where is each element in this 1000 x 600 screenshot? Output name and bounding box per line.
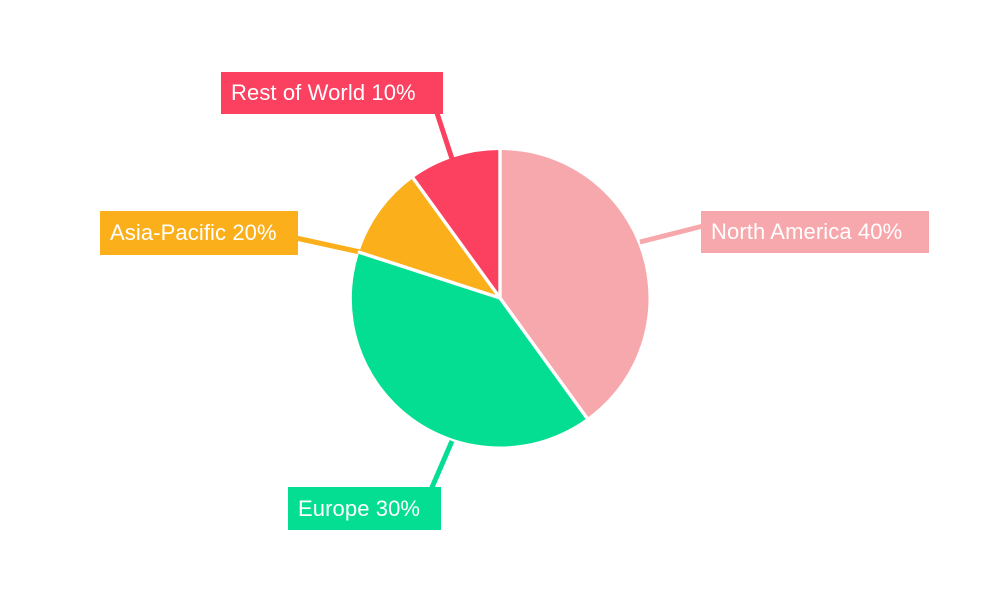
- pie-label-rest-of-world-text: Rest of World 10%: [231, 82, 416, 104]
- leader-line-europe: [430, 441, 452, 492]
- pie-label-north-america-text: North America 40%: [711, 221, 902, 243]
- pie-label-europe-text: Europe 30%: [298, 498, 420, 520]
- pie-label-asia-pacific-text: Asia-Pacific 20%: [110, 222, 277, 244]
- pie-label-north-america[interactable]: North America 40%: [701, 211, 929, 253]
- pie-label-europe[interactable]: Europe 30%: [288, 487, 441, 530]
- leader-line-north-america: [640, 226, 703, 242]
- pie-chart-canvas: [0, 0, 1000, 600]
- pie-label-asia-pacific[interactable]: Asia-Pacific 20%: [100, 211, 298, 255]
- pie-chart: North America 40% Europe 30% Asia-Pacifi…: [0, 0, 1000, 600]
- leader-line-asia-pacific: [296, 238, 360, 252]
- pie-label-rest-of-world[interactable]: Rest of World 10%: [221, 72, 443, 114]
